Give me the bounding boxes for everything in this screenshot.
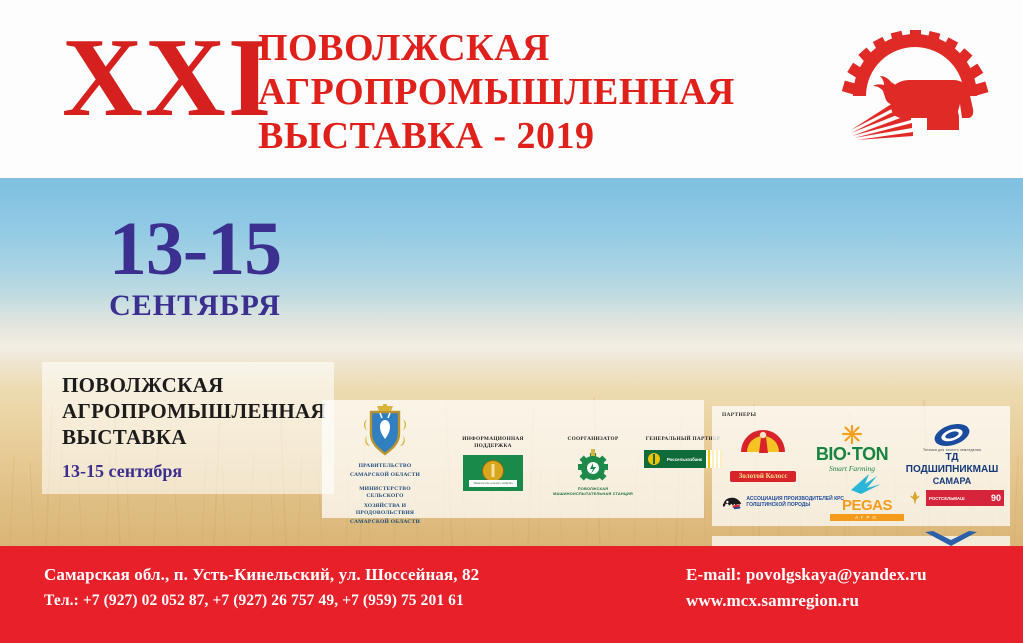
footer-website[interactable]: www.mcx.samregion.ru: [686, 588, 927, 614]
rosselkhozbank-logo-text: Россельхозбанк: [660, 457, 706, 462]
exhibition-name-line-2: АГРОПРОМЫШЛЕННАЯ: [62, 398, 334, 424]
slot-information-support: ИНФОРМАЦИОННАЯ ПОДДЕРЖКА Министерство се…: [450, 436, 536, 491]
minselhoz-rf-logo-text: Министерство сельского хозяйства Российс…: [469, 480, 517, 487]
slot-info-caption-line-2: ПОДДЕРЖКА: [450, 443, 536, 450]
poster-footer: Самарская обл., п. Усть-Кинельский, ул. …: [0, 546, 1023, 643]
footer-email[interactable]: E-mail: povolgskaya@yandex.ru: [686, 562, 927, 588]
poster-header: XXI ПОВОЛЖСКАЯ АГРОПРОМЫШЛЕННАЯ ВЫСТАВКА…: [0, 0, 1023, 178]
slot-coorg-caption: СООРГАНИЗАТОР: [550, 436, 636, 443]
td-podshipnikmash-logo: Техника для точного земледелия ТД ПОДШИП…: [900, 422, 1004, 486]
event-day-range: 13-15: [70, 210, 320, 288]
crest-caption-line-1: ПРАВИТЕЛЬСТВО: [348, 463, 422, 470]
footer-contact-block: Самарская обл., п. Усть-Кинельский, ул. …: [44, 562, 479, 614]
footer-address: Самарская обл., п. Усть-Кинельский, ул. …: [44, 562, 479, 588]
event-title-line-3: ВЫСТАВКА - 2019: [258, 114, 818, 158]
pegas-agro-logo: PEGAS АГРО: [830, 468, 904, 521]
rostselmash-logo-text: РОСТСЕЛЬМАШ: [929, 496, 965, 501]
samara-region-coat-of-arms-block: ПРАВИТЕЛЬСТВО САМАРСКОЙ ОБЛАСТИ МИНИСТЕР…: [348, 404, 422, 527]
td-podshipnikmash-logo-text: ТД ПОДШИПНИКМАШ: [900, 452, 1004, 476]
zolotoy-kolos-logo-text: Золотой Колосс: [730, 471, 796, 482]
event-title-line-2: АГРОПРОМЫШЛЕННАЯ: [258, 70, 818, 114]
poster-root: XXI ПОВОЛЖСКАЯ АГРОПРОМЫШЛЕННАЯ ВЫСТАВКА…: [0, 0, 1023, 643]
bioton-logo: BIO·TON Smart Farming: [804, 424, 900, 473]
crest-caption-line-2: САМАРСКОЙ ОБЛАСТИ: [348, 472, 422, 479]
event-title: ПОВОЛЖСКАЯ АГРОПРОМЫШЛЕННАЯ ВЫСТАВКА - 2…: [258, 26, 818, 158]
partners-card: ПАРТНЕРЫ Золотой Колосс: [712, 406, 1010, 526]
exhibition-name-line-3: ВЫСТАВКА: [62, 424, 334, 450]
minselhoz-rf-logo: Министерство сельского хозяйства Российс…: [463, 455, 523, 491]
exhibition-name-line-1: ПОВОЛЖСКАЯ: [62, 372, 334, 398]
slot-co-organiser: СООРГАНИЗАТОР: [550, 436, 636, 496]
ministry-caption-line-3: САМАРСКОЙ ОБЛАСТИ: [348, 519, 422, 526]
golshtinskaya-association-logo: АССОЦИАЦИЯ ПРОИЗВОДИТЕЛЕЙ КРС ГОЛШТИНСКО…: [722, 490, 844, 514]
ministry-caption-line-2: ХОЗЯЙСТВА И ПРОДОВОЛЬСТВИЯ: [348, 503, 422, 518]
samara-region-coat-of-arms: [363, 404, 407, 456]
pegas-agro-logo-text: PEGAS: [830, 498, 904, 514]
exhibition-summary-panel: ПОВОЛЖСКАЯ АГРОПРОМЫШЛЕННАЯ ВЫСТАВКА 13-…: [42, 362, 334, 494]
zolotoy-kolos-logo: Золотой Колосс: [730, 428, 796, 482]
roman-numeral: XXI: [62, 22, 273, 134]
povolzhskaya-mis-logo: [576, 449, 610, 483]
agro-gear-cow-logo: [835, 30, 995, 148]
td-podshipnikmash-subtext: САМАРА: [900, 476, 1004, 486]
rosselkhozbank-logo: Россельхозбанк: [644, 450, 722, 468]
photo-band: 13-15 СЕНТЯБРЯ ПОВОЛЖСКАЯ АГРОПРОМЫШЛЕНН…: [0, 178, 1023, 546]
exhibition-dates: 13-15 сентября: [62, 460, 334, 482]
event-date-block: 13-15 СЕНТЯБРЯ: [70, 210, 320, 324]
footer-web-block: E-mail: povolgskaya@yandex.ru www.mcx.sa…: [686, 562, 927, 614]
general-info-partner-card: ГЕНЕРАЛЬНЫЙ ИНФОРМАЦИОННЫЙ ПАРТНЕР ГУБЕР…: [712, 536, 1010, 546]
bioton-logo-text: BIO·TON: [804, 444, 900, 464]
povolzhskaya-mis-logo-text: ПОВОЛЖСКАЯ МАШИНОИСПЫТАТЕЛЬНАЯ СТАНЦИЯ: [550, 486, 636, 496]
rostselmash-anniversary: 90: [991, 493, 1001, 503]
partners-caption: ПАРТНЕРЫ: [722, 412, 756, 419]
footer-phones: Тел.: +7 (927) 02 052 87, +7 (927) 26 75…: [44, 588, 479, 614]
ministry-caption-line-1: МИНИСТЕРСТВО СЕЛЬСКОГО: [348, 486, 422, 501]
slot-info-caption-line-1: ИНФОРМАЦИОННАЯ: [450, 436, 536, 443]
pegas-agro-subtext: АГРО: [830, 514, 904, 521]
event-month: СЕНТЯБРЯ: [70, 288, 320, 324]
organisers-card: ПРАВИТЕЛЬСТВО САМАРСКОЙ ОБЛАСТИ МИНИСТЕР…: [322, 400, 704, 518]
event-title-line-1: ПОВОЛЖСКАЯ: [258, 26, 818, 70]
guberniya-tv-logo: ГУБЕРНИЯ телерадиокомпания: [900, 530, 1002, 546]
rostselmash-90-logo: РОСТСЕЛЬМАШ 90: [908, 490, 1004, 506]
